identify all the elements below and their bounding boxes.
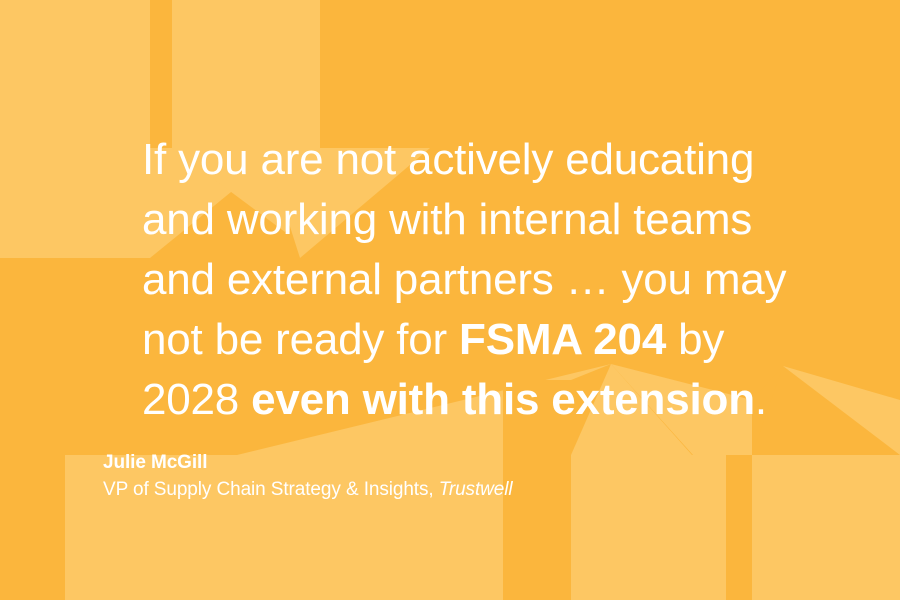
author-title: VP of Supply Chain Strategy & Insights, …	[103, 476, 803, 504]
quote-text: If you are not actively educating and wo…	[142, 130, 832, 430]
quote-card: If you are not actively educating and wo…	[0, 0, 900, 600]
card-content: If you are not actively educating and wo…	[0, 0, 900, 600]
quote-segment-3: even with this extension	[251, 375, 755, 424]
attribution-block: Julie McGill VP of Supply Chain Strategy…	[103, 450, 803, 504]
quote-segment-4: .	[755, 375, 767, 424]
author-role: VP of Supply Chain Strategy & Insights,	[103, 479, 434, 500]
quote-segment-1: FSMA 204	[459, 315, 666, 364]
author-name: Julie McGill	[103, 450, 803, 476]
author-company: Trustwell	[439, 479, 513, 500]
